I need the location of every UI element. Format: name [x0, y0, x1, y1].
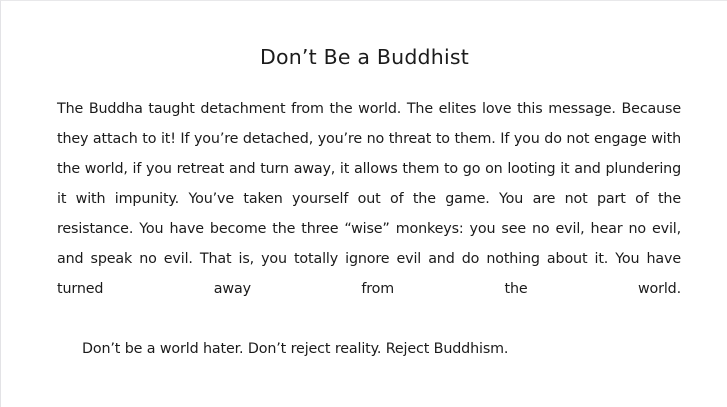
document-page: Don’t Be a Buddhist The Buddha taught de…: [0, 0, 727, 407]
page-title: Don’t Be a Buddhist: [1, 45, 727, 70]
paragraph-1: The Buddha taught detachment from the wo…: [57, 94, 681, 334]
document-body: The Buddha taught detachment from the wo…: [57, 94, 681, 364]
paragraph-2: Don’t be a world hater. Don’t reject rea…: [57, 334, 681, 364]
